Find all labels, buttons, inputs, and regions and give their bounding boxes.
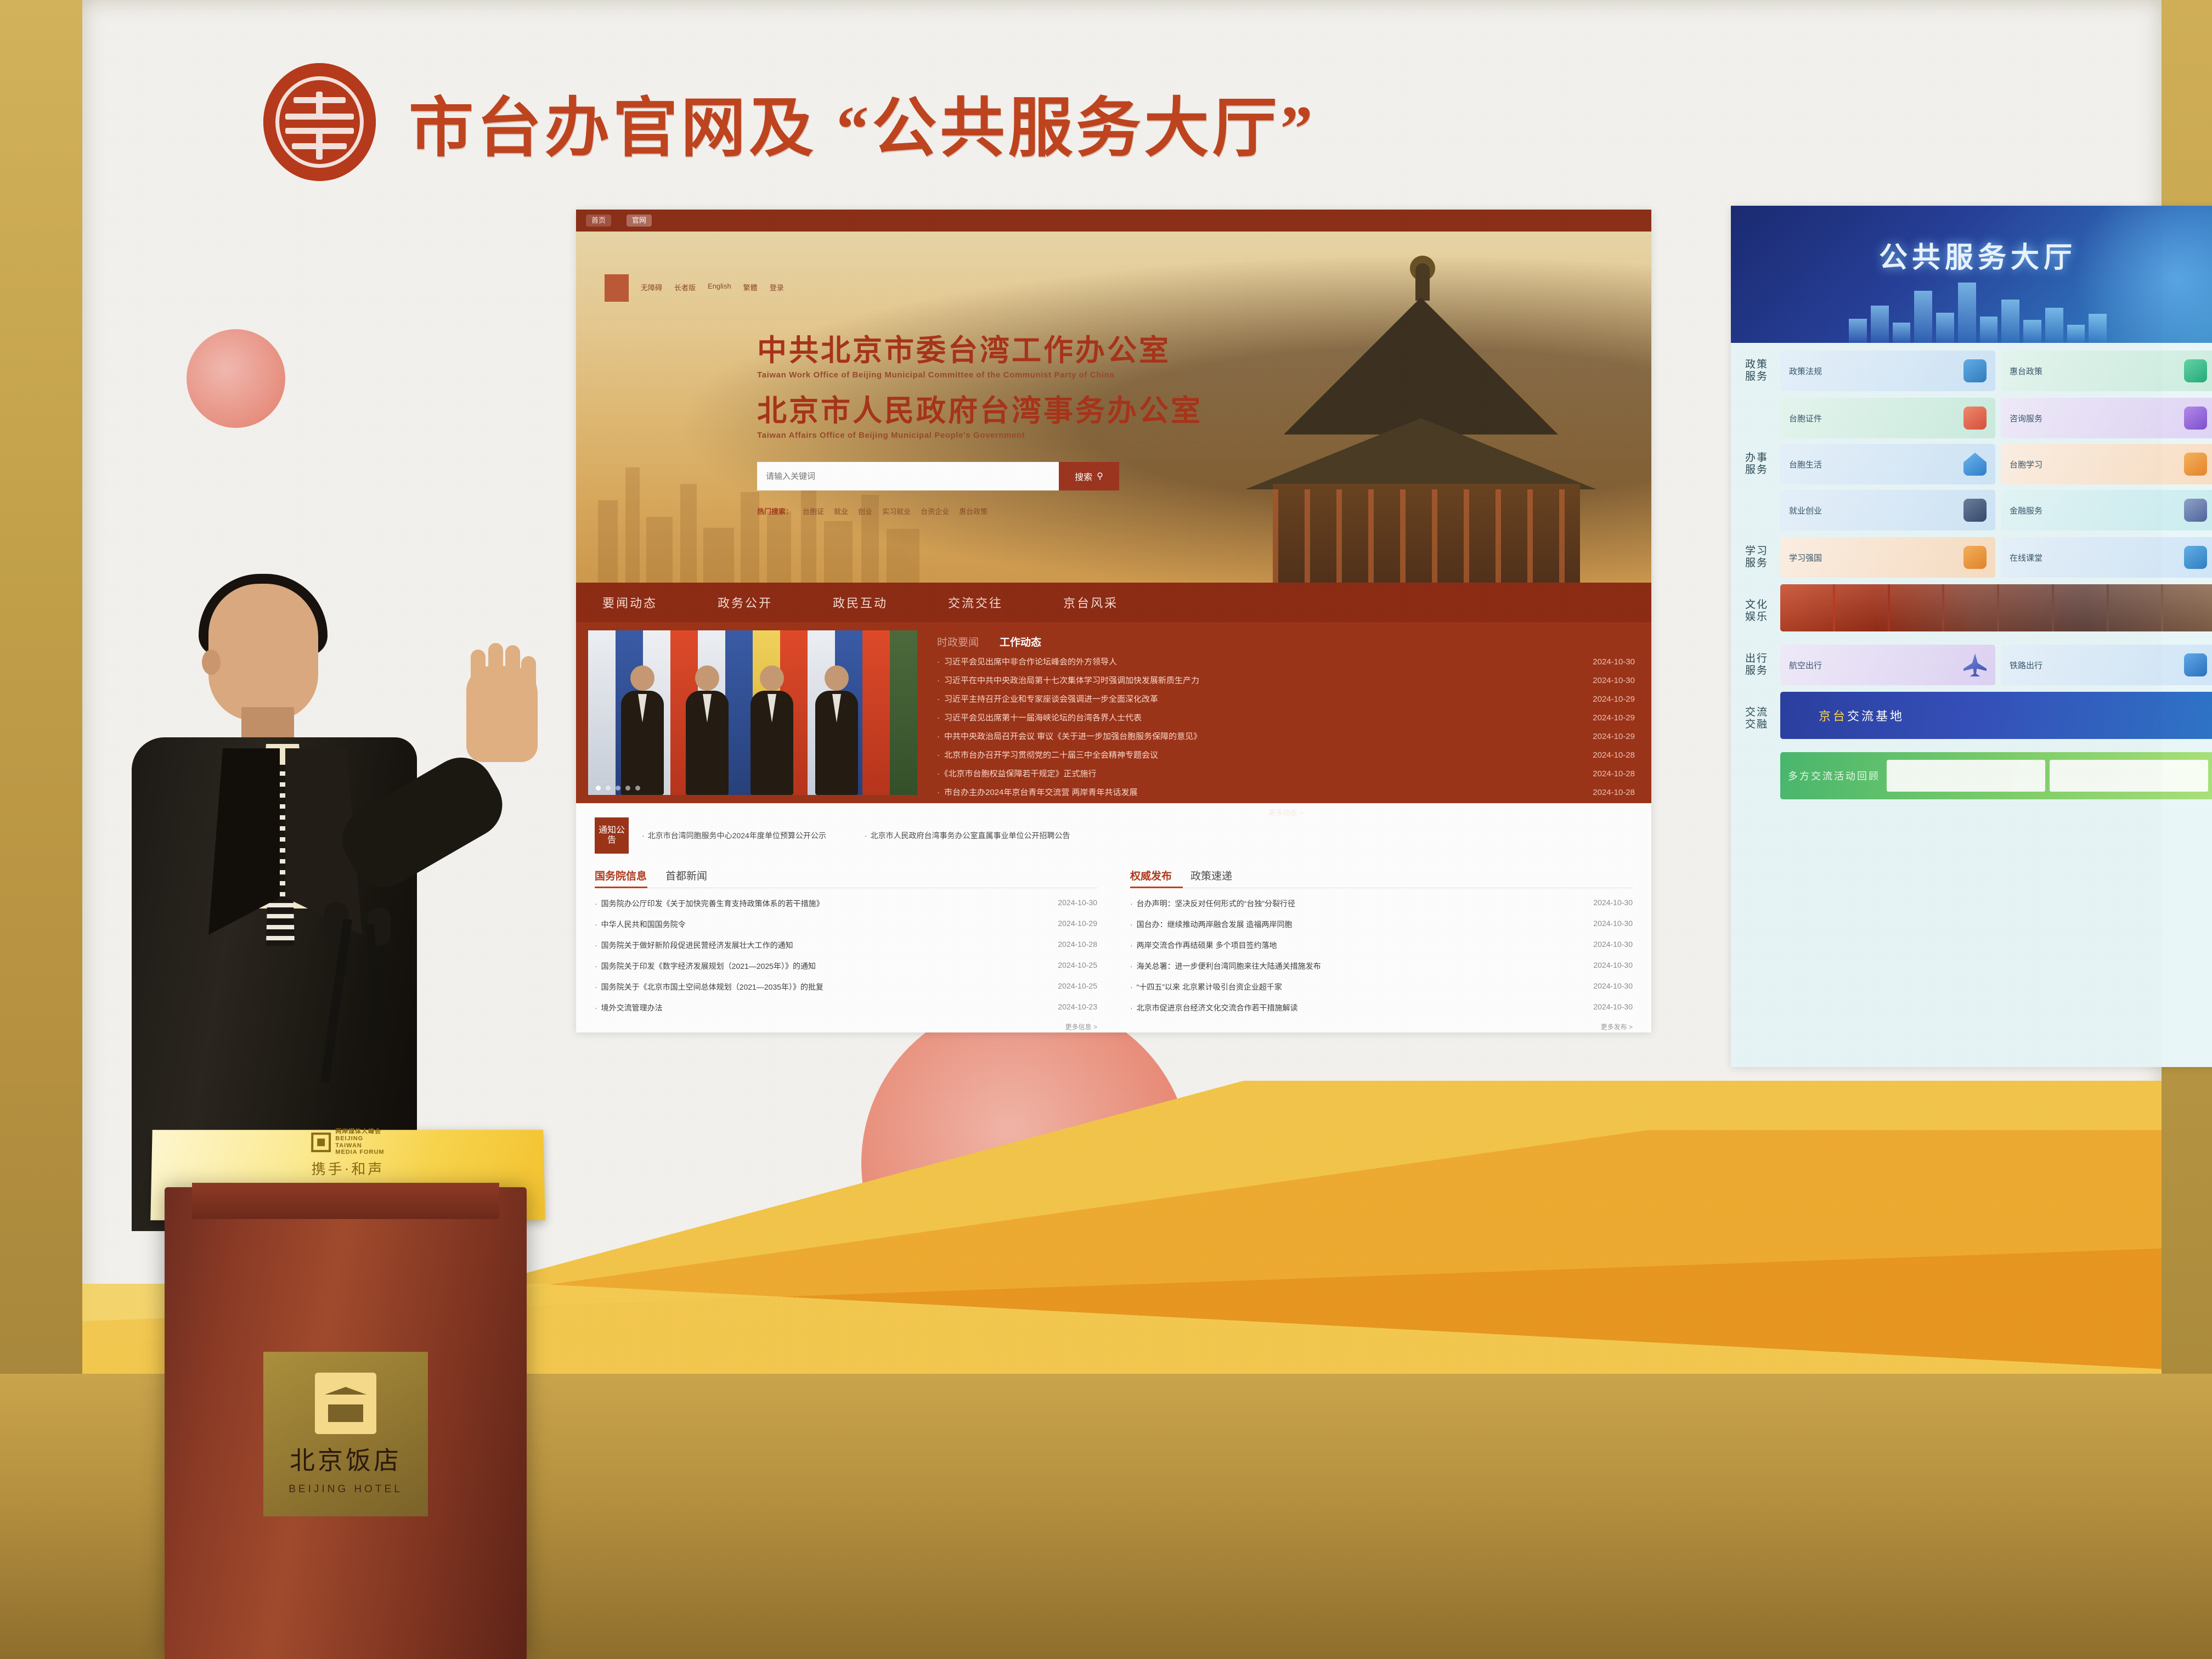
house-icon [1963, 453, 1987, 476]
forum-slogan: 携手·和声 [312, 1158, 385, 1178]
forum-logo: 两岸媒体人峰会 BEIJING TAIWAN MEDIA FORUM [311, 1128, 384, 1156]
search-button[interactable]: 搜索 ⚲ [1059, 462, 1119, 490]
hall-group-green: 多方交流活动回顾 [1740, 752, 2212, 806]
hall-cell[interactable]: 台胞生活 [1780, 444, 1995, 484]
news-date: 2024-10-28 [1575, 770, 1635, 778]
hall-cell[interactable]: 铁路出行 [2001, 645, 2212, 685]
hotel-name-cn: 北京饭店 [290, 1441, 402, 1477]
exchange-text-c: 基地 [1876, 707, 1904, 724]
site-logo-icon[interactable] [605, 274, 629, 302]
nav-item-3[interactable]: 交流交往 [948, 594, 1003, 611]
list-more-right[interactable]: 更多发布 > [1130, 1022, 1633, 1031]
news-date: 2024-10-28 [1575, 751, 1635, 759]
search-icon: ⚲ [1097, 471, 1103, 482]
city-skyline-icon [1849, 283, 2107, 343]
hot-searches: 热门搜索： 台胞证 就业 创业 实习就业 台资企业 惠台政策 [757, 506, 988, 516]
bottom-lists: 国务院信息 首都新闻 国务院办公厅印发《关于加快完善生育支持政策体系的若干措施》… [576, 854, 1651, 1031]
hotel-plaque: 北京饭店 BEIJING HOTEL [263, 1352, 428, 1516]
list-row[interactable]: 海关总署：进一步便利台湾同胞来往大陆通关措施发布 2024-10-30 [1130, 961, 1633, 972]
notice-badge: 通知公告 [595, 817, 629, 854]
cell-label: 就业创业 [1789, 505, 1822, 516]
news-band: 时政要闻 工作动态 习近平会见出席中非合作论坛峰会的外方领导人 2024-10-… [576, 622, 1651, 803]
org-name-cn-1: 中共北京市委台湾工作办公室 [757, 336, 1203, 365]
list-row[interactable]: 国务院关于做好新阶段促进民营经济发展壮大工作的通知 2024-10-28 [595, 940, 1097, 951]
hall-group-services: 办事 服务 台胞证件 咨询服务 台胞生活 [1740, 398, 2212, 531]
cell-label: 铁路出行 [2010, 659, 2042, 671]
nav-item-2[interactable]: 政民互动 [833, 594, 888, 611]
list-row[interactable]: 境外交流管理办法 2024-10-23 [595, 1002, 1097, 1013]
list-row[interactable]: 北京市促进京台经济文化交流合作若干措施解读 2024-10-30 [1130, 1002, 1633, 1013]
hall-cell[interactable]: 台胞证件 [1780, 398, 1995, 438]
list-row[interactable]: 国务院关于《北京市国土空间总体规划（2021—2035年）》的批复 2024-1… [595, 981, 1097, 992]
notice-item-1[interactable]: 北京市人民政府台湾事务办公室直属事业单位公开招聘公告 [865, 830, 1070, 841]
utility-link-4[interactable]: 登录 [770, 282, 784, 292]
forum-logo-text: 两岸媒体人峰会 BEIJING TAIWAN MEDIA FORUM [335, 1128, 384, 1156]
hall-group-exchange: 交流 交融 京台 交流 基地 [1740, 692, 2212, 746]
temple-of-heaven-illustration [1234, 259, 1618, 583]
utility-link-0[interactable]: 无障碍 [641, 282, 662, 292]
news-tabs[interactable]: 时政要闻 工作动态 [937, 634, 1635, 649]
forum-logo-en-1: BEIJING [335, 1135, 363, 1142]
study-icon [1963, 546, 1987, 569]
list-row[interactable]: 中华人民共和国国务院令 2024-10-29 [595, 919, 1097, 930]
site-utility-nav[interactable]: 无障碍 长者版 English 繁體 登录 [641, 282, 784, 292]
site-org-title: 中共北京市委台湾工作办公室 Taiwan Work Office of Beij… [757, 336, 1203, 456]
search-input[interactable] [757, 462, 1059, 490]
news-date: 2024-10-28 [1575, 788, 1635, 797]
list-date: 2024-10-25 [1047, 961, 1097, 972]
hall-group-culture: 文化 娱乐 [1740, 584, 2212, 638]
news-date: 2024-10-29 [1575, 714, 1635, 722]
cell-label: 惠台政策 [2010, 365, 2042, 377]
news-row[interactable]: 市台办主办2024年京台青年交流营 两岸青年共话发展 2024-10-28 [937, 788, 1635, 797]
news-title: 习近平会见出席第十一届海峡论坛的台湾各界人士代表 [937, 714, 1575, 722]
list-row[interactable]: 两岸交流合作再结硕果 多个项目签约落地 2024-10-30 [1130, 940, 1633, 951]
list-date: 2024-10-30 [1582, 940, 1633, 951]
list-icon [2184, 359, 2207, 382]
list-tab-1[interactable]: 首都新闻 [665, 868, 707, 883]
green-band-label: 多方交流活动回顾 [1788, 769, 1880, 783]
hall-group-study: 学习 服务 学习强国 在线课堂 [1740, 537, 2212, 578]
news-date: 2024-10-29 [1575, 695, 1635, 703]
forum-logo-top: 两岸媒体人峰会 [335, 1128, 381, 1135]
public-service-hall-screenshot: 公共服务大厅 政策 服务 政策法规 [1731, 206, 2212, 1067]
org-name-en-2: Taiwan Affairs Office of Beijing Municip… [757, 431, 1203, 440]
group-label: 交流 交融 [1740, 692, 1774, 746]
list-date: 2024-10-30 [1582, 961, 1633, 972]
book-icon [2184, 453, 2207, 476]
exchange-text-a: 京台 [1819, 707, 1847, 724]
list-tab-0[interactable]: 权威发布 [1130, 868, 1172, 883]
list-date: 2024-10-23 [1047, 1002, 1097, 1013]
utility-link-1[interactable]: 长者版 [674, 282, 696, 292]
list-row[interactable]: 国务院关于印发《数字经济发展规划（2021—2025年）》的通知 2024-10… [595, 961, 1097, 972]
org-name-en-1: Taiwan Work Office of Beijing Municipal … [757, 370, 1203, 380]
podium: 北京饭店 BEIJING HOTEL [165, 1187, 527, 1659]
news-row[interactable]: 习近平会见出席第十一届海峡论坛的台湾各界人士代表 2024-10-29 [937, 714, 1635, 722]
exchange-text-b: 交流 [1847, 707, 1876, 724]
list-tab-0[interactable]: 国务院信息 [595, 868, 647, 883]
list-column-left: 国务院信息 首都新闻 国务院办公厅印发《关于加快完善生育支持政策体系的若干措施》… [595, 868, 1097, 1031]
carousel-dots[interactable] [596, 786, 640, 791]
utility-link-2[interactable]: English [708, 282, 731, 292]
browser-tab-1[interactable]: 首页 [586, 215, 611, 227]
list-tab-1[interactable]: 政策速递 [1190, 868, 1232, 883]
hot-item-3[interactable]: 实习就业 [882, 506, 911, 516]
list-title: 海关总署：进一步便利台湾同胞来往大陆通关措施发布 [1130, 961, 1582, 972]
hot-item-5[interactable]: 惠台政策 [959, 506, 988, 516]
news-title: 习近平在中共中央政治局第十七次集体学习时强调加快发展新质生产力 [937, 676, 1575, 685]
list-date: 2024-10-30 [1582, 898, 1633, 909]
slide-title: 市台办官网及 “公共服务大厅” [409, 75, 1316, 169]
hall-cell[interactable]: 学习强国 [1780, 537, 1995, 578]
group-label-spacer [1740, 752, 1774, 806]
video-icon [2184, 546, 2207, 569]
browser-tab-2[interactable]: 官网 [627, 215, 652, 227]
news-title: 习近平会见出席中非合作论坛峰会的外方领导人 [937, 658, 1575, 666]
hot-item-0[interactable]: 台胞证 [803, 506, 824, 516]
news-row[interactable]: 《北京市台胞权益保障若干规定》正式施行 2024-10-28 [937, 770, 1635, 778]
list-title: 国务院关于印发《数字经济发展规划（2021—2025年）》的通知 [595, 961, 1047, 972]
hall-cell[interactable]: 金融服务 [2001, 490, 2212, 531]
news-row[interactable]: 习近平在中共中央政治局第十七次集体学习时强调加快发展新质生产力 2024-10-… [937, 676, 1635, 685]
hall-cell[interactable]: 政策法规 [1780, 351, 1995, 391]
list-title: 两岸交流合作再结硕果 多个项目签约落地 [1130, 940, 1582, 951]
cell-label: 在线课堂 [2010, 552, 2042, 563]
search-button-label: 搜索 [1075, 470, 1092, 483]
hall-hero: 公共服务大厅 [1731, 206, 2212, 343]
site-hero: 无障碍 长者版 English 繁體 登录 中共北京市委台湾工作办公室 Taiw… [576, 232, 1651, 583]
hall-cell[interactable]: 在线课堂 [2001, 537, 2212, 578]
news-carousel[interactable] [588, 630, 917, 795]
news-date: 2024-10-30 [1575, 658, 1635, 666]
notice-item-0[interactable]: 北京市台湾同胞服务中心2024年度单位预算公开公示 [642, 830, 826, 841]
news-more-link[interactable]: 更多动态 > [937, 807, 1635, 817]
news-list: 时政要闻 工作动态 习近平会见出席中非合作论坛峰会的外方领导人 2024-10-… [917, 622, 1651, 803]
seal-icon [263, 63, 376, 181]
website-screenshot: 首页 官网 [576, 210, 1651, 1032]
list-date: 2024-10-28 [1047, 940, 1097, 951]
news-row[interactable]: 习近平主持召开企业和专家座谈会强调进一步全面深化改革 2024-10-29 [937, 695, 1635, 703]
news-title: 《北京市台胞权益保障若干规定》正式施行 [937, 770, 1575, 778]
list-date: 2024-10-30 [1582, 981, 1633, 992]
bank-icon [2184, 499, 2207, 522]
cell-label: 咨询服务 [2010, 413, 2042, 424]
list-title: 国台办：继续推动两岸融合发展 造福两岸同胞 [1130, 919, 1582, 930]
site-search[interactable]: 搜索 ⚲ [757, 462, 1119, 490]
hot-item-4[interactable]: 台资企业 [921, 506, 949, 516]
list-date: 2024-10-30 [1047, 898, 1097, 909]
list-title: 国务院关于《北京市国土空间总体规划（2021—2035年）》的批复 [595, 981, 1047, 992]
site-main-nav[interactable]: 要闻动态 政务公开 政民互动 交流交往 京台风采 [576, 583, 1651, 622]
news-row[interactable]: 中共中央政治局召开会议 审议《关于进一步加强台胞服务保障的意见》 2024-10… [937, 732, 1635, 741]
news-date: 2024-10-30 [1575, 676, 1635, 685]
news-tab-0[interactable]: 时政要闻 [937, 634, 979, 649]
list-title: 台办声明：坚决反对任何形式的“台独”分裂行径 [1130, 898, 1582, 909]
list-title: 国务院关于做好新阶段促进民营经济发展壮大工作的通知 [595, 940, 1047, 951]
list-row[interactable]: 国务院办公厅印发《关于加快完善生育支持政策体系的若干措施》 2024-10-30 [595, 898, 1097, 909]
list-date: 2024-10-25 [1047, 981, 1097, 992]
browser-chrome: 首页 官网 [576, 210, 1651, 232]
delegation-photo [621, 691, 858, 795]
news-title: 习近平主持召开企业和专家座谈会强调进一步全面深化改革 [937, 695, 1575, 703]
hall-cell[interactable]: 咨询服务 [2001, 398, 2212, 438]
group-label: 出行 服务 [1740, 645, 1774, 685]
beijing-hotel-emblem-icon [315, 1373, 376, 1434]
list-title: 国务院办公厅印发《关于加快完善生育支持政策体系的若干措施》 [595, 898, 1047, 909]
nav-item-1[interactable]: 政务公开 [718, 594, 772, 611]
news-title: 市台办主办2024年京台青年交流营 两岸青年共话发展 [937, 788, 1575, 797]
list-more-left[interactable]: 更多信息 > [595, 1022, 1097, 1031]
hot-item-1[interactable]: 就业 [834, 506, 848, 516]
hall-cell[interactable]: 惠台政策 [2001, 351, 2212, 391]
list-date: 2024-10-30 [1582, 919, 1633, 930]
news-date: 2024-10-29 [1575, 732, 1635, 741]
cell-label: 航空出行 [1789, 659, 1822, 671]
cell-label: 台胞证件 [1789, 413, 1822, 424]
activity-review-banner[interactable]: 多方交流活动回顾 [1780, 752, 2212, 799]
cell-label: 学习强国 [1789, 552, 1822, 563]
slide-header: 市台办官网及 “公共服务大厅” [263, 63, 1316, 181]
train-icon [2184, 653, 2207, 676]
list-tabs-right[interactable]: 权威发布 政策速递 [1130, 868, 1633, 888]
culture-banner[interactable] [1780, 584, 2212, 631]
conference-scene: 市台办官网及 “公共服务大厅” 首页 官网 [0, 0, 2212, 1659]
cell-label: 金融服务 [2010, 505, 2042, 516]
hall-cell[interactable]: 航空出行 [1780, 645, 1995, 685]
list-row[interactable]: “十四五”以来 北京累计吸引台资企业超千家 2024-10-30 [1130, 981, 1633, 992]
list-date: 2024-10-30 [1582, 1002, 1633, 1013]
group-label: 政策 服务 [1740, 351, 1774, 391]
news-row[interactable]: 北京市台办召开学习贯彻党的二十届三中全会精神专题会议 2024-10-28 [937, 751, 1635, 759]
utility-link-3[interactable]: 繁體 [743, 282, 758, 292]
hall-group-travel: 出行 服务 航空出行 铁路出行 [1740, 645, 2212, 685]
group-label: 文化 娱乐 [1740, 584, 1774, 638]
hotel-name-en: BEIJING HOTEL [289, 1483, 403, 1496]
plane-icon [1963, 653, 1987, 676]
list-column-right: 权威发布 政策速递 台办声明：坚决反对任何形式的“台独”分裂行径 2024-10… [1130, 868, 1633, 1031]
rings-icon [1963, 407, 1987, 430]
news-tab-1[interactable]: 工作动态 [1000, 634, 1041, 649]
nav-item-4[interactable]: 京台风采 [1063, 594, 1118, 611]
hall-group-policy: 政策 服务 政策法规 惠台政策 [1740, 351, 2212, 391]
forum-logo-en-3: MEDIA FORUM [335, 1149, 384, 1155]
org-name-cn-2: 北京市人民政府台湾事务办公室 [757, 396, 1203, 426]
forum-logo-icon [311, 1132, 331, 1152]
list-title: 境外交流管理办法 [595, 1002, 1047, 1013]
hall-body: 政策 服务 政策法规 惠台政策 办事 服务 [1731, 343, 2212, 1067]
nav-item-0[interactable]: 要闻动态 [602, 594, 657, 611]
news-row[interactable]: 习近平会见出席中非合作论坛峰会的外方领导人 2024-10-30 [937, 658, 1635, 666]
notice-items: 北京市台湾同胞服务中心2024年度单位预算公开公示 北京市人民政府台湾事务办公室… [629, 817, 1633, 854]
decorative-sun-left [187, 329, 285, 428]
group-label: 学习 服务 [1740, 537, 1774, 578]
cell-label: 政策法规 [1789, 365, 1822, 377]
group-label: 办事 服务 [1740, 398, 1774, 531]
hot-item-2[interactable]: 创业 [858, 506, 872, 516]
forum-logo-en-2: TAIWAN [335, 1142, 362, 1149]
podium-top [192, 1183, 499, 1219]
document-icon [1963, 359, 1987, 382]
hot-label: 热门搜索： [757, 506, 793, 516]
speaker-head [208, 584, 318, 721]
speaker-hand [466, 666, 538, 762]
exchange-banner[interactable]: 京台 交流 基地 [1780, 692, 2212, 739]
list-row[interactable]: 台办声明：坚决反对任何形式的“台独”分裂行径 2024-10-30 [1130, 898, 1633, 909]
list-tabs-left[interactable]: 国务院信息 首都新闻 [595, 868, 1097, 888]
hall-cell[interactable]: 就业创业 [1780, 490, 1995, 531]
list-title: “十四五”以来 北京累计吸引台资企业超千家 [1130, 981, 1582, 992]
news-title: 北京市台办召开学习贯彻党的二十届三中全会精神专题会议 [937, 751, 1575, 759]
list-title: 中华人民共和国国务院令 [595, 919, 1047, 930]
news-title: 中共中央政治局召开会议 审议《关于进一步加强台胞服务保障的意见》 [937, 732, 1575, 741]
hall-cell[interactable]: 台胞学习 [2001, 444, 2212, 484]
cell-label: 台胞生活 [1789, 459, 1822, 470]
list-title: 北京市促进京台经济文化交流合作若干措施解读 [1130, 1002, 1582, 1013]
notice-strip: 通知公告 北京市台湾同胞服务中心2024年度单位预算公开公示 北京市人民政府台湾… [595, 817, 1633, 854]
location-pin-icon [2184, 407, 2207, 430]
cell-label: 台胞学习 [2010, 459, 2042, 470]
speaker-ear [202, 650, 221, 675]
briefcase-icon [1963, 499, 1987, 522]
list-row[interactable]: 国台办：继续推动两岸融合发展 造福两岸同胞 2024-10-30 [1130, 919, 1633, 930]
hall-title: 公共服务大厅 [1879, 234, 2076, 275]
list-date: 2024-10-29 [1047, 919, 1097, 930]
